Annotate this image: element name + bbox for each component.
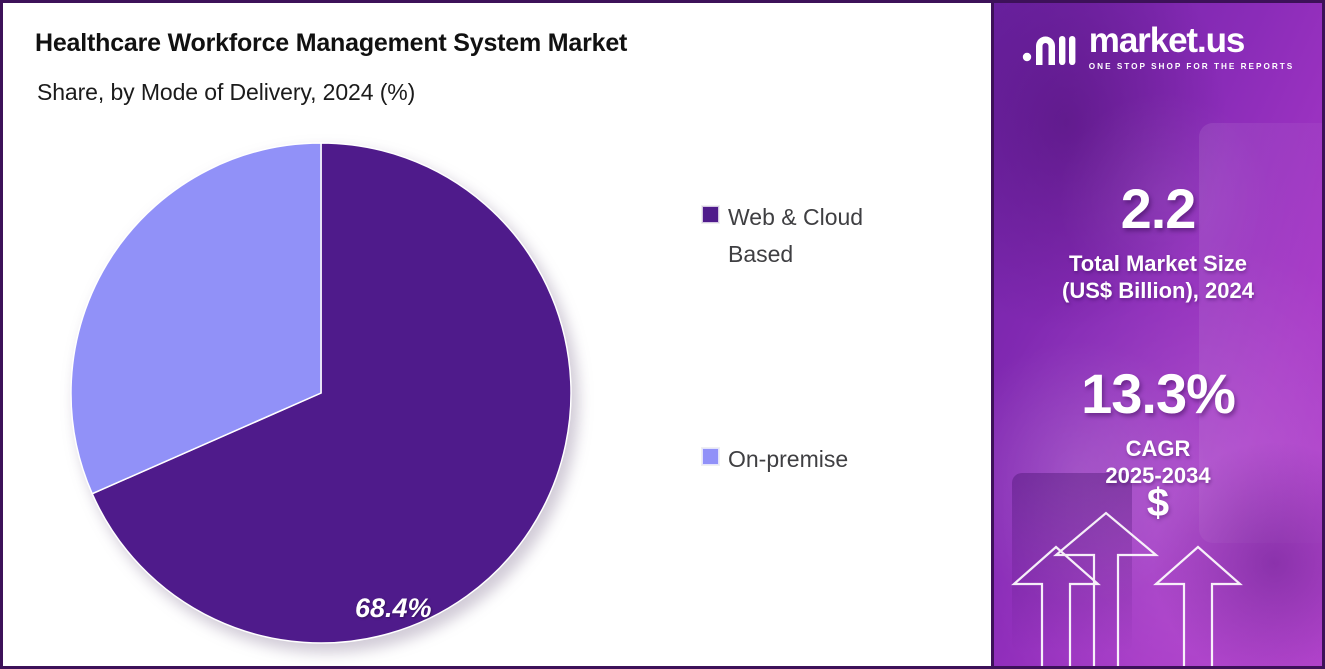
legend-swatch-icon: [702, 448, 719, 465]
stat-cagr: 13.3% CAGR 2025-2034: [994, 366, 1322, 490]
stat-value: 2.2: [994, 181, 1322, 237]
pie-slice-label-web-cloud-based: 68.4%: [355, 593, 432, 624]
logo-tagline: ONE STOP SHOP FOR THE REPORTS: [1089, 62, 1294, 71]
legend-item-label: On-premise: [728, 441, 848, 478]
stat-caption-line1: Total Market Size: [994, 251, 1322, 278]
logo-text: market.us ONE STOP SHOP FOR THE REPORTS: [1089, 23, 1294, 71]
brand-logo[interactable]: market.us ONE STOP SHOP FOR THE REPORTS: [994, 23, 1322, 71]
legend-item-on-premise[interactable]: On-premise: [702, 441, 848, 478]
legend-item-label: Web & Cloud Based: [728, 199, 918, 274]
pie-svg: [69, 141, 573, 645]
stat-caption-line2: (US$ Billion), 2024: [994, 278, 1322, 305]
market-us-logo-icon: [1022, 24, 1078, 70]
legend-swatch-icon: [702, 206, 719, 223]
stats-panel: market.us ONE STOP SHOP FOR THE REPORTS …: [991, 0, 1325, 669]
dollar-sign-icon: $: [994, 483, 1322, 523]
pie-chart: 68.4%: [69, 141, 579, 651]
infographic-root: Healthcare Workforce Management System M…: [0, 0, 1325, 669]
chart-title: Healthcare Workforce Management System M…: [35, 29, 627, 58]
stat-total-market-size: 2.2 Total Market Size (US$ Billion), 202…: [994, 181, 1322, 305]
growth-graphic: $: [994, 481, 1322, 666]
legend-item-web-cloud-based[interactable]: Web & Cloud Based: [702, 199, 918, 274]
stat-caption: Total Market Size (US$ Billion), 2024: [994, 251, 1322, 305]
stat-value: 13.3%: [994, 366, 1322, 422]
chart-subtitle: Share, by Mode of Delivery, 2024 (%): [37, 79, 415, 106]
chart-panel: Healthcare Workforce Management System M…: [0, 0, 991, 669]
logo-wordmark: market.us: [1089, 23, 1244, 58]
stat-caption-line1: CAGR: [994, 436, 1322, 463]
